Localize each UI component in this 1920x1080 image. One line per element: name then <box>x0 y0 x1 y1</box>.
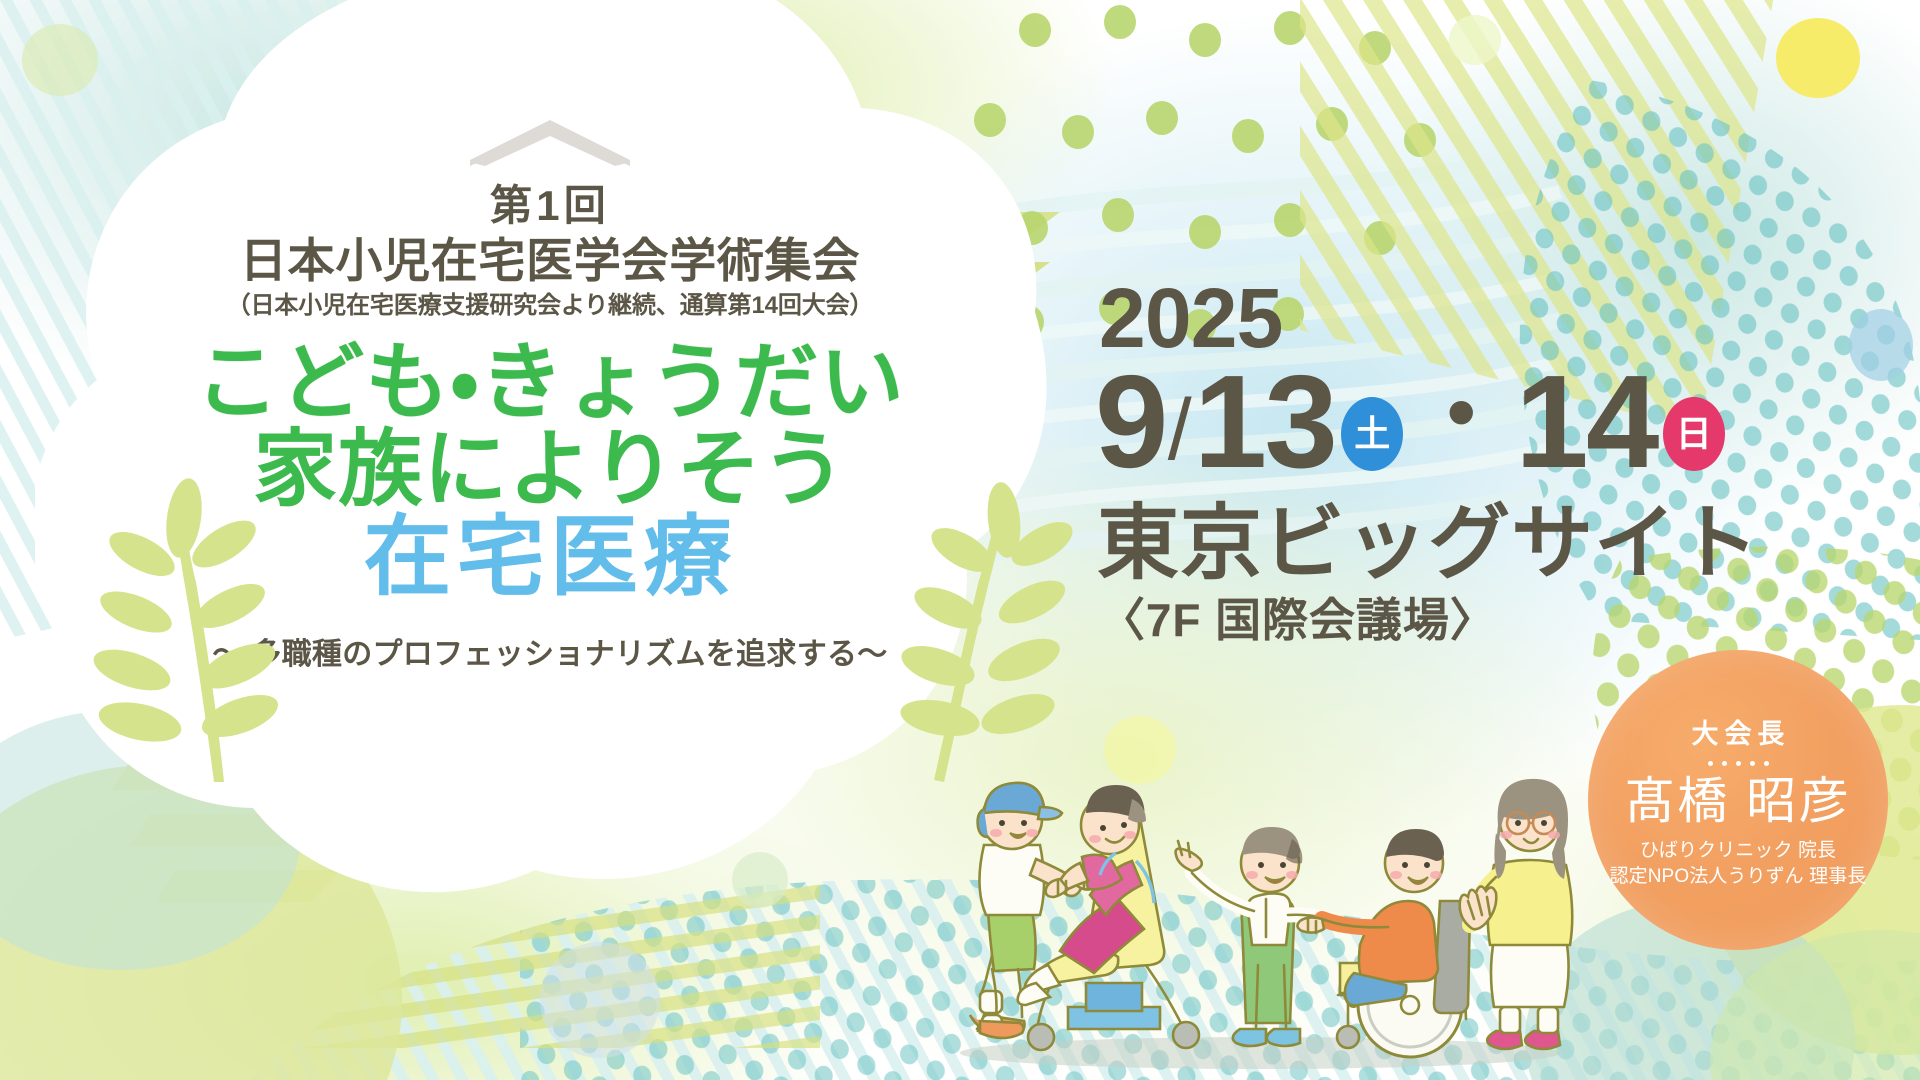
illustration-child-in-buggy <box>1018 785 1199 1050</box>
weekday-badge-sunday: 日 <box>1663 397 1725 471</box>
event-day-1: 13 <box>1194 361 1336 482</box>
chairman-affiliation-line-2: 認定NPO法人うりずん 理事長 <box>1610 864 1867 890</box>
chevron-roof-icon <box>470 120 630 166</box>
children-and-caregivers-illustration: .ln{fill:none;stroke:#8e8a3a;stroke-widt… <box>940 715 1580 1075</box>
chairman-badge: 大会長 髙橋 昭彦 ひばりクリニック 院長 認定NPO法人うりずん 理事長 <box>1588 650 1888 950</box>
date-conjunction: ・ <box>1413 369 1509 465</box>
venue-hall: 〈7F 国際会議場〉 <box>1099 595 1760 646</box>
chairman-affiliation-line-1: ひばりクリニック 院長 <box>1610 838 1867 864</box>
weekday-badge-saturday: 土 <box>1341 397 1403 471</box>
leaf-sprig-left-icon <box>88 470 288 800</box>
continuation-note: （日本小児在宅医療支援研究会より継続、通算第14回大会） <box>70 292 1030 321</box>
illustration-child-green-overalls <box>1176 827 1346 1046</box>
chairman-divider-dots <box>1708 761 1769 766</box>
date-separator: / <box>1168 387 1192 473</box>
event-year: 2025 <box>1099 280 1760 357</box>
poster-canvas: 第1回 日本小児在宅医学会学術集会 （日本小児在宅医療支援研究会より継続、通算第… <box>0 0 1920 1080</box>
date-venue-block: 2025 9 / 13 土 ・ 14 日 東京ビッグサイト 〈7F 国際会議場〉 <box>1095 280 1760 645</box>
event-day-2: 14 <box>1515 361 1657 482</box>
chairman-affiliation: ひばりクリニック 院長 認定NPO法人うりずん 理事長 <box>1610 838 1867 890</box>
illustration-woman-with-glasses <box>1460 779 1573 1049</box>
theme-line-1: こども・きょうだい <box>70 339 1030 426</box>
society-name: 日本小児在宅医学会学術集会 <box>70 233 1030 288</box>
edition-label: 第1回 <box>70 182 1030 229</box>
yellow-sun-decoration <box>1776 18 1860 98</box>
event-date-row: 9 / 13 土 ・ 14 日 <box>1095 361 1760 482</box>
event-month: 9 <box>1095 361 1166 482</box>
chairman-name: 髙橋 昭彦 <box>1625 774 1851 829</box>
chairman-role: 大会長 <box>1686 712 1791 751</box>
illustration-child-in-wheelchair <box>1297 829 1470 1057</box>
blue-dot-decoration <box>1849 309 1913 381</box>
venue-name: 東京ビッグサイト <box>1097 501 1760 587</box>
